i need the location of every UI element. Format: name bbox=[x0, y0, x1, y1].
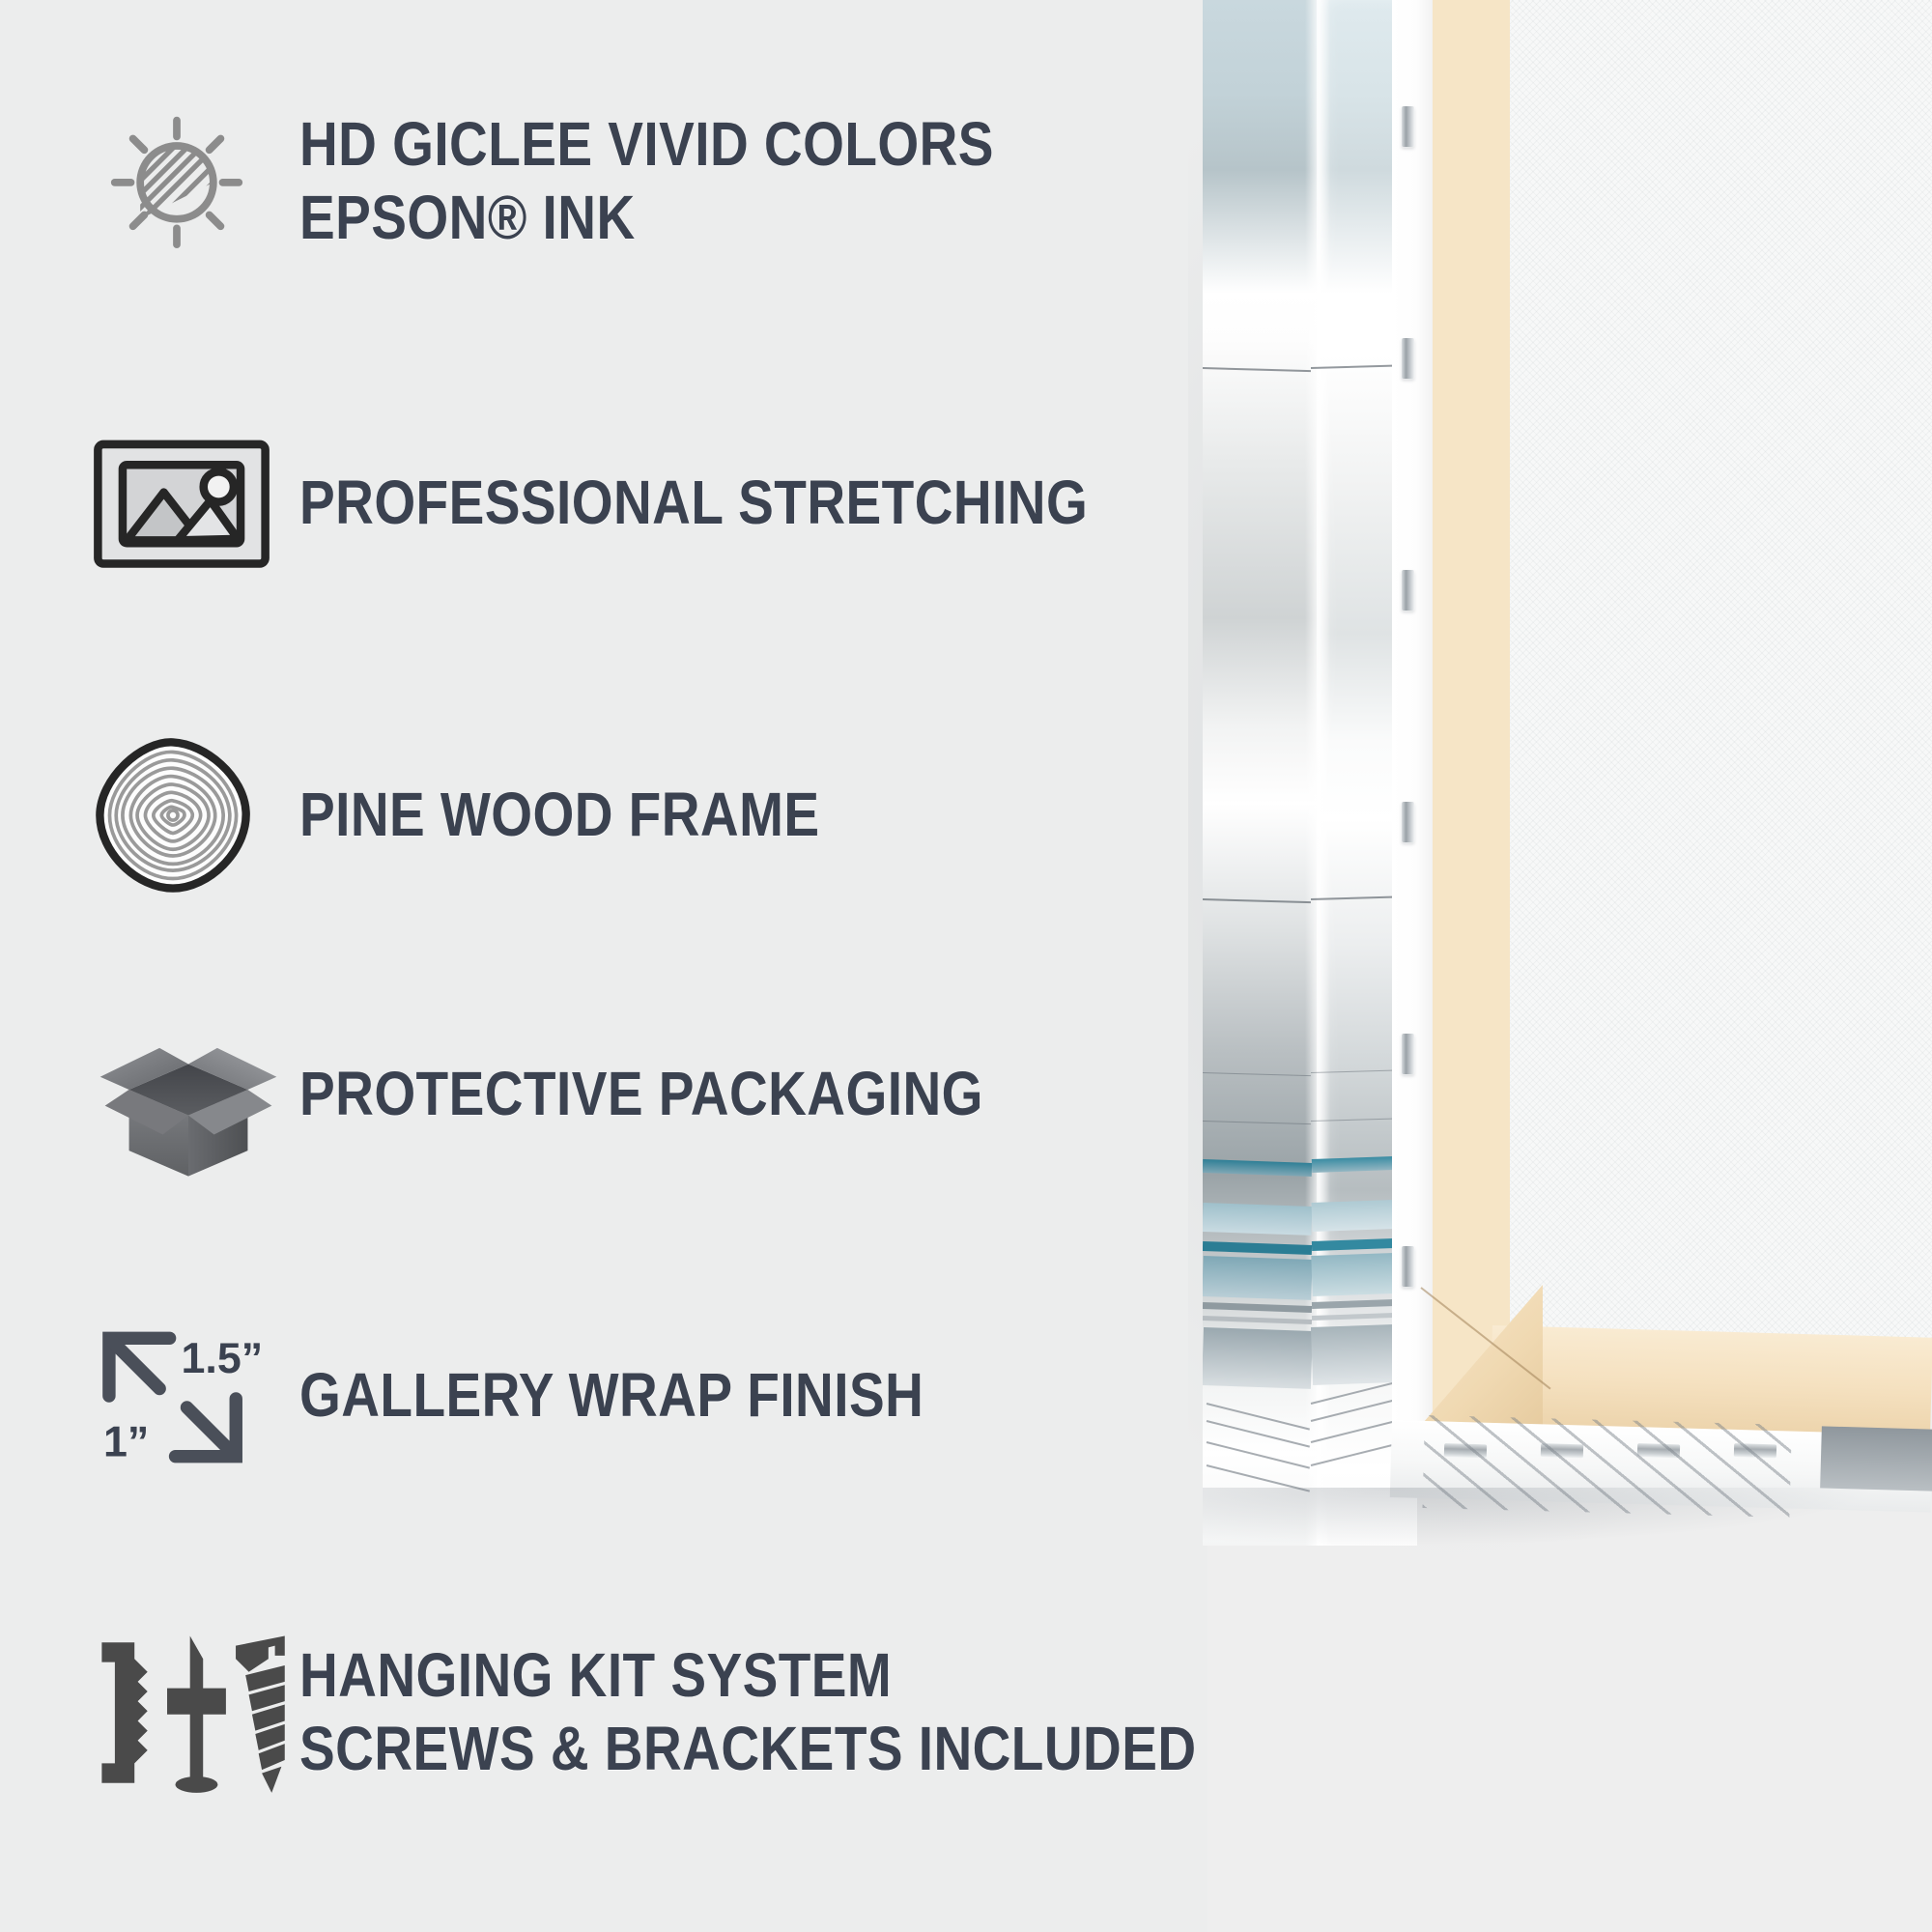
sun-icon bbox=[92, 97, 299, 267]
hardware-icon bbox=[92, 1623, 299, 1803]
wrap-seam bbox=[1203, 367, 1417, 370]
frame-shadow-notch bbox=[1820, 1426, 1932, 1491]
wrap-seam bbox=[1203, 1121, 1417, 1123]
staple bbox=[1402, 1034, 1414, 1074]
feature-label-pine-wood-frame: PINE WOOD FRAME bbox=[299, 779, 819, 852]
feature-row-professional-stretching: PROFESSIONAL STRETCHING bbox=[92, 435, 1216, 572]
wrap-color-band bbox=[1203, 1159, 1417, 1173]
staple bbox=[1402, 338, 1414, 379]
feature-row-pine-wood-frame: PINE WOOD FRAME bbox=[92, 734, 904, 896]
staple bbox=[1402, 1246, 1414, 1287]
feature-row-hd-giclee: HD GICLEE VIVID COLORS EPSON® INK bbox=[92, 97, 1107, 267]
feature-row-protective-packaging: PROTECTIVE PACKAGING bbox=[92, 1009, 1094, 1179]
feature-label-hd-giclee: HD GICLEE VIVID COLORS EPSON® INK bbox=[299, 108, 994, 254]
feature-label-hanging-kit-system: HANGING KIT SYSTEM SCREWS & BRACKETS INC… bbox=[299, 1639, 1197, 1785]
wrap-color-band bbox=[1203, 1302, 1417, 1309]
wrap-seam bbox=[1203, 1072, 1417, 1075]
depth-label-primary: 1.5” bbox=[182, 1334, 264, 1382]
canvas-corner-photo bbox=[1203, 0, 1932, 1546]
staple bbox=[1402, 570, 1414, 611]
picture-frame-icon bbox=[92, 435, 299, 572]
depth-arrows-icon: 1.5” 1” bbox=[92, 1323, 299, 1468]
product-floor-shadow bbox=[1203, 1488, 1879, 1546]
depth-label-secondary: 1” bbox=[103, 1418, 149, 1466]
open-box-icon bbox=[92, 1009, 299, 1179]
staple bbox=[1402, 802, 1414, 842]
wrap-corner-chevron bbox=[1203, 1464, 1417, 1470]
wrap-color-band bbox=[1203, 1316, 1417, 1321]
canvas-staple-strip bbox=[1392, 0, 1433, 1430]
feature-row-gallery-wrap-finish: 1.5” 1” GALLERY WRAP FINISH bbox=[92, 1323, 1025, 1468]
wrap-color-band bbox=[1203, 1203, 1417, 1232]
wrap-corner-fold bbox=[1305, 0, 1330, 1546]
feature-label-protective-packaging: PROTECTIVE PACKAGING bbox=[299, 1058, 983, 1131]
wrap-color-band bbox=[1203, 1256, 1417, 1296]
feature-label-gallery-wrap-finish: GALLERY WRAP FINISH bbox=[299, 1359, 923, 1433]
staple bbox=[1402, 106, 1414, 147]
wrap-face-left bbox=[1203, 0, 1317, 1546]
canvas-back-panel bbox=[1510, 0, 1932, 1372]
infographic-page: HD GICLEE VIVID COLORS EPSON® INK PROFES… bbox=[0, 0, 1932, 1932]
printed-canvas-wrap bbox=[1203, 0, 1417, 1546]
feature-list: HD GICLEE VIVID COLORS EPSON® INK PROFES… bbox=[0, 0, 1207, 1932]
wrap-color-band bbox=[1203, 1241, 1417, 1251]
feature-label-professional-stretching: PROFESSIONAL STRETCHING bbox=[299, 467, 1088, 540]
feature-row-hanging-kit-system: HANGING KIT SYSTEM SCREWS & BRACKETS INC… bbox=[92, 1623, 1343, 1803]
wrap-color-band bbox=[1203, 1327, 1417, 1385]
wood-rings-icon bbox=[92, 734, 299, 896]
wrap-seam bbox=[1203, 898, 1417, 901]
